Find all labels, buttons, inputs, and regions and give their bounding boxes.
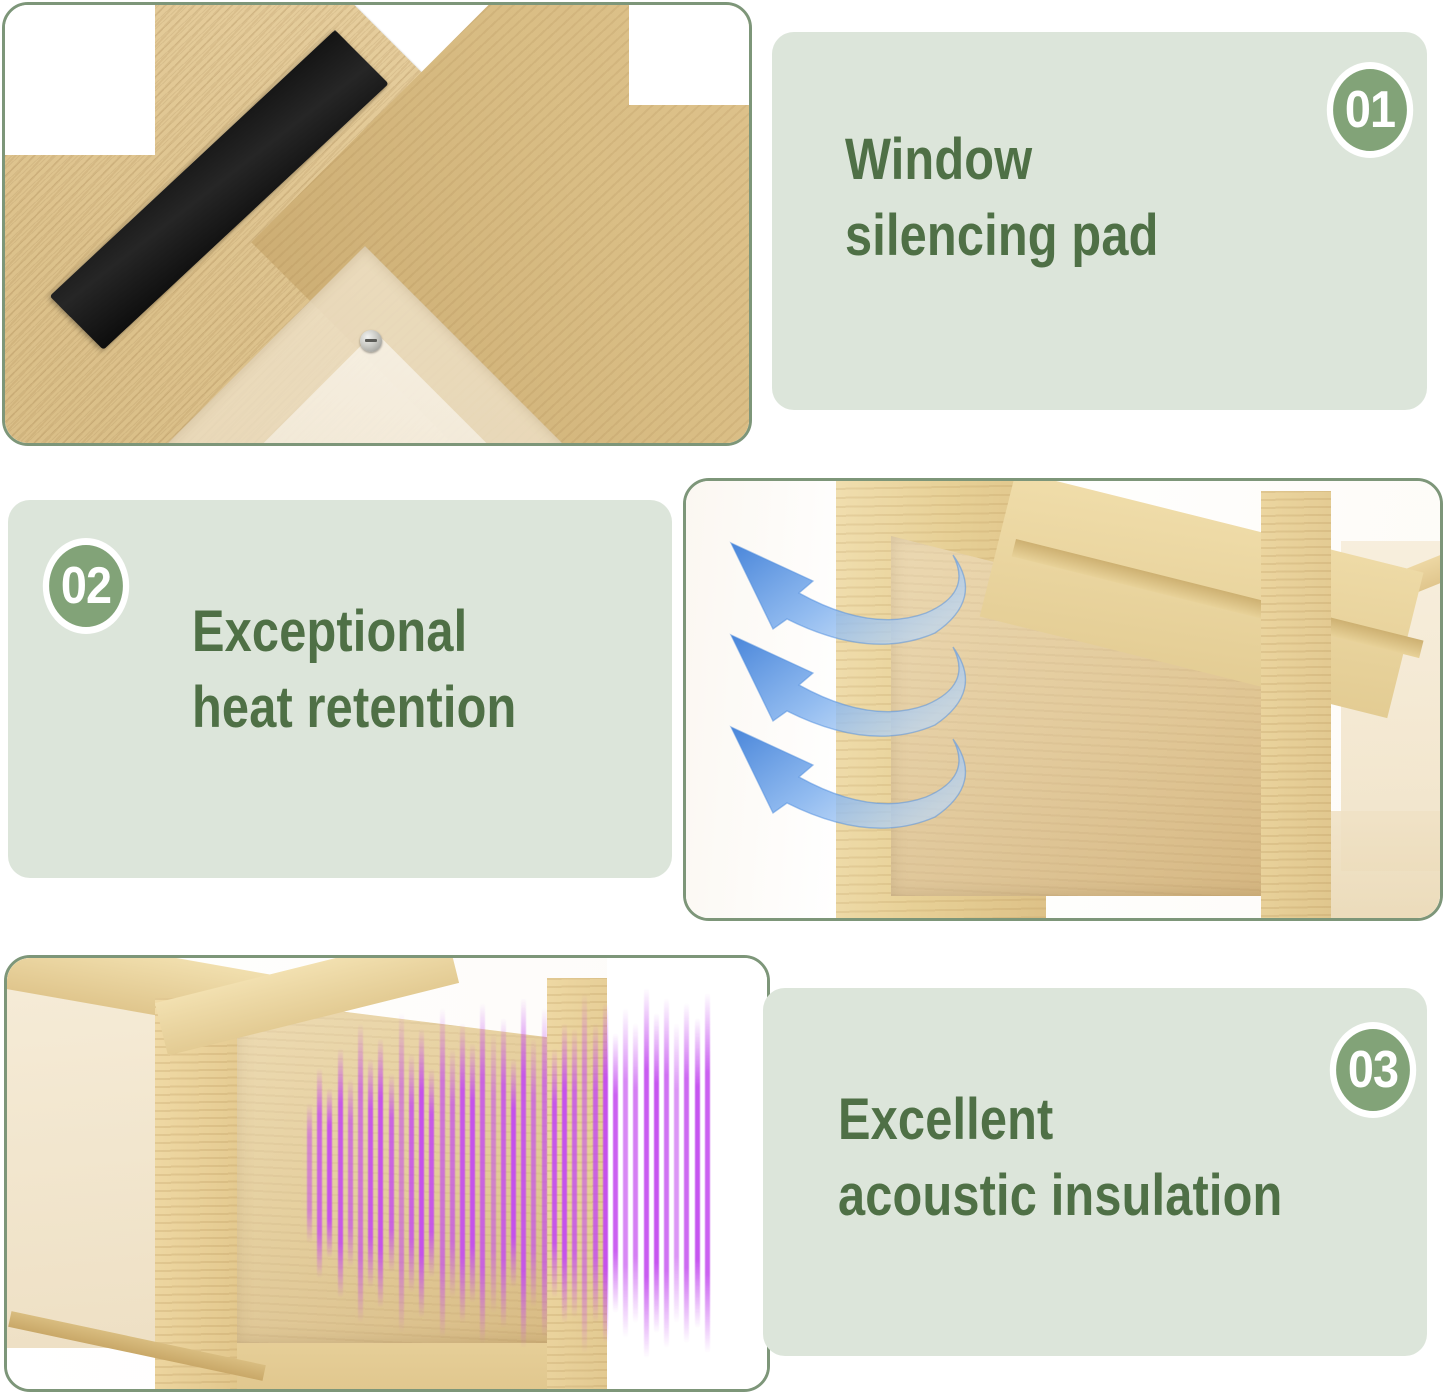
sound-wave-bar	[531, 1038, 536, 1308]
house-corner-post-left	[155, 998, 237, 1392]
feature-title-02: Exceptional	[192, 594, 467, 669]
step-badge-02: 02	[43, 538, 129, 634]
sound-wave-bar	[429, 1068, 434, 1278]
sound-wave-bar	[450, 1048, 455, 1298]
screw-icon	[360, 330, 382, 352]
feature-subtitle-01: silencing pad	[845, 198, 1159, 273]
sound-wave-bar	[491, 1033, 496, 1313]
sound-wave-bar	[460, 1023, 465, 1323]
sound-wave-bar	[480, 1003, 485, 1343]
sound-wave-bar	[582, 993, 587, 1353]
feature-photo-acoustic-insulation	[4, 955, 770, 1392]
sound-wave-bar	[317, 1068, 322, 1278]
sound-wave-bar	[327, 1088, 332, 1258]
airflow-arrow-icon-3	[721, 713, 996, 863]
sound-wave-bar	[470, 1043, 475, 1303]
photo-corner-mask-right	[629, 5, 749, 105]
sound-wave-bar	[613, 1033, 618, 1313]
sound-wave-bar	[307, 1103, 312, 1243]
sound-wave-bar	[378, 1038, 383, 1308]
feature-title-03: Excellent	[838, 1082, 1053, 1157]
sound-wave-bar	[368, 1058, 373, 1288]
sound-wave-bar	[562, 1023, 567, 1323]
sound-wave-bar	[695, 1018, 700, 1328]
feature-photo-window-silencing-pad	[2, 2, 752, 446]
sound-wave-bar	[389, 1073, 394, 1273]
step-badge-01: 01	[1327, 62, 1413, 158]
sound-wave-bar	[348, 1078, 353, 1268]
sound-wave-bar	[419, 1028, 424, 1318]
sound-wave-bar	[572, 1028, 577, 1318]
feature-subtitle-03: acoustic insulation	[838, 1158, 1282, 1233]
sound-wave-bar	[399, 1013, 404, 1333]
sound-wave-bar	[501, 1018, 506, 1328]
sound-wave-bar	[542, 1008, 547, 1338]
feature-photo-heat-retention	[683, 478, 1443, 921]
sound-wave-bar	[633, 1023, 638, 1323]
feature-subtitle-02: heat retention	[192, 670, 516, 745]
sound-wave-bar	[409, 1053, 414, 1293]
sound-wave-bar	[705, 993, 710, 1353]
sound-wave-bar	[654, 1013, 659, 1333]
sound-wave-bar	[593, 1023, 598, 1323]
step-badge-03: 03	[1330, 1022, 1416, 1118]
photo-corner-mask-left	[5, 5, 155, 155]
sound-wave-bar	[674, 1023, 679, 1323]
sound-wave-bar	[603, 1003, 608, 1343]
house-corner-post	[1261, 491, 1331, 921]
infographic-canvas: Window silencing pad 01 02 Exceptional h…	[0, 0, 1445, 1395]
sound-wave-bar	[684, 1003, 689, 1343]
sound-wave-bar	[664, 998, 669, 1348]
sound-wave-bar	[440, 1008, 445, 1338]
feature-title-01: Window	[845, 122, 1032, 197]
sound-wave-bar	[623, 1008, 628, 1338]
sound-wave-bar	[521, 998, 526, 1348]
sound-wave-bar	[644, 988, 649, 1358]
sound-wave-bar	[552, 1048, 557, 1298]
sound-wave-bar	[358, 1023, 363, 1323]
sound-wave-bar	[338, 1048, 343, 1298]
sound-wave-bar	[511, 1058, 516, 1288]
